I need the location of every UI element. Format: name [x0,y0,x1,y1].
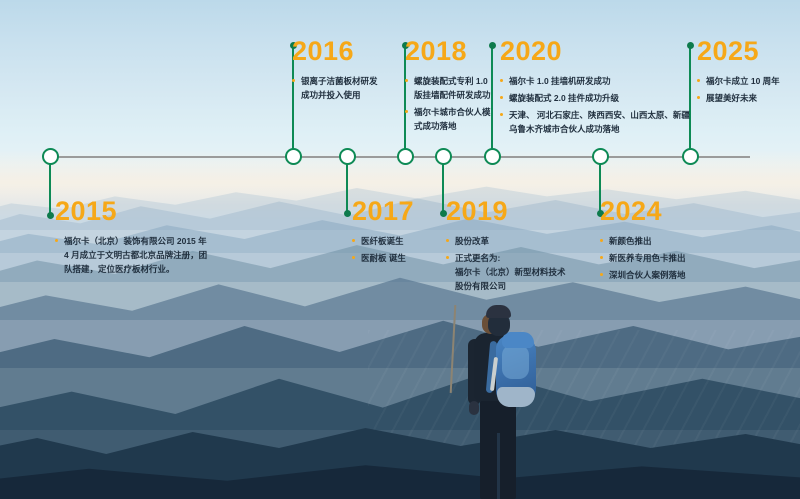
timeline-bullet: 银离子洁菌板材研发 成功并投入使用 [292,74,392,102]
timeline-year-label: 2019 [446,198,566,225]
timeline-bullet-text: 展望美好未来 [706,93,757,103]
timeline-bullet-text: 福尔卡成立 10 周年 [706,76,780,86]
timeline-bullet: 股份改革 [446,234,566,248]
timeline-bullet-list: 螺旋装配式专利 1.0 版挂墙配件研发成功福尔卡城市合伙人模 式成功落地 [405,74,503,133]
timeline-bullet-text: 医耐板 诞生 [361,253,406,263]
hiker-hand [469,401,479,415]
timeline-bullet-list: 股份改革正式更名为: 福尔卡（北京）新型材料技术 股份有限公司 [446,234,566,293]
timeline-node-2016[interactable] [285,148,302,165]
timeline-stem-cap-2017 [344,210,351,217]
bullet-dot-icon [352,256,355,259]
timeline-year-label: 2024 [600,198,730,225]
bullet-dot-icon [697,79,700,82]
timeline-stem-2015 [49,156,51,216]
bullet-dot-icon [600,256,603,259]
timeline-bullet: 医纤板诞生 [352,234,442,248]
timeline-bullet-list: 福尔卡（北京）装饰有限公司 2015 年 4 月成立于文明古都北京品牌注册，团 … [55,234,235,276]
backpack-lid [502,332,534,348]
timeline-stem-cap-2015 [47,212,54,219]
bullet-dot-icon [600,239,603,242]
timeline-bullet-text: 深圳合伙人案例落地 [609,270,686,280]
bullet-dot-icon [405,110,408,113]
timeline-entry-2024[interactable]: 2024新颜色推出新医养专用色卡推出深圳合伙人案例落地 [600,198,730,285]
timeline-infographic: 2015福尔卡（北京）装饰有限公司 2015 年 4 月成立于文明古都北京品牌注… [0,0,800,499]
timeline-bullet: 福尔卡 1.0 挂墙机研发成功 [500,74,700,88]
timeline-bullet-text: 新医养专用色卡推出 [609,253,686,263]
timeline-bullet: 新医养专用色卡推出 [600,251,730,265]
timeline-bullet-list: 福尔卡成立 10 周年展望美好未来 [697,74,800,105]
timeline-bullet-list: 福尔卡 1.0 挂墙机研发成功螺旋装配式 2.0 挂件成功升级天津、 河北石家庄… [500,74,700,136]
timeline-bullet-text: 正式更名为: 福尔卡（北京）新型材料技术 股份有限公司 [455,253,566,291]
timeline-entry-2025[interactable]: 2025福尔卡成立 10 周年展望美好未来 [697,38,800,108]
timeline-bullet-text: 天津、 河北石家庄、陕西西安、山西太原、新疆 乌鲁木齐城市合伙人成功落地 [509,110,690,134]
backpack-base [497,387,535,407]
timeline-bullet-list: 银离子洁菌板材研发 成功并投入使用 [292,74,392,102]
timeline-node-2024[interactable] [592,148,609,165]
timeline-bullet-text: 股份改革 [455,236,489,246]
timeline-bullet: 福尔卡城市合伙人模 式成功落地 [405,105,503,133]
bullet-dot-icon [500,113,503,116]
timeline-year-label: 2025 [697,38,800,65]
timeline-year-label: 2016 [292,38,392,65]
timeline-bullet-list: 新颜色推出新医养专用色卡推出深圳合伙人案例落地 [600,234,730,282]
timeline-bullet-text: 新颜色推出 [609,236,652,246]
bullet-dot-icon [352,239,355,242]
timeline-bullet-text: 螺旋装配式 2.0 挂件成功升级 [509,93,619,103]
timeline-bullet-list: 医纤板诞生医耐板 诞生 [352,234,442,265]
backpack-front-panel [502,345,529,379]
timeline-bullet: 福尔卡成立 10 周年 [697,74,800,88]
timeline-bullet: 医耐板 诞生 [352,251,442,265]
timeline-bullet: 正式更名为: 福尔卡（北京）新型材料技术 股份有限公司 [446,251,566,293]
timeline-bullet-text: 福尔卡 1.0 挂墙机研发成功 [509,76,611,86]
timeline-year-label: 2018 [405,38,503,65]
bullet-dot-icon [500,96,503,99]
timeline-entry-2016[interactable]: 2016银离子洁菌板材研发 成功并投入使用 [292,38,392,105]
timeline-entry-2018[interactable]: 2018螺旋装配式专利 1.0 版挂墙配件研发成功福尔卡城市合伙人模 式成功落地 [405,38,503,136]
bullet-dot-icon [446,239,449,242]
bullet-dot-icon [500,79,503,82]
bullet-dot-icon [697,96,700,99]
timeline-node-2020[interactable] [484,148,501,165]
timeline-entry-2015[interactable]: 2015福尔卡（北京）装饰有限公司 2015 年 4 月成立于文明古都北京品牌注… [55,198,235,279]
timeline-entry-2019[interactable]: 2019股份改革正式更名为: 福尔卡（北京）新型材料技术 股份有限公司 [446,198,566,296]
hiker-figure [452,305,548,499]
timeline-entry-2017[interactable]: 2017医纤板诞生医耐板 诞生 [352,198,442,268]
timeline-node-2017[interactable] [339,148,356,165]
timeline-bullet-text: 福尔卡（北京）装饰有限公司 2015 年 4 月成立于文明古都北京品牌注册，团 … [64,236,207,274]
bullet-dot-icon [446,256,449,259]
timeline-node-2018[interactable] [397,148,414,165]
timeline-year-label: 2020 [500,38,700,65]
timeline-bullet: 展望美好未来 [697,91,800,105]
timeline-bullet: 螺旋装配式 2.0 挂件成功升级 [500,91,700,105]
timeline-bullet-text: 医纤板诞生 [361,236,404,246]
bullet-dot-icon [405,79,408,82]
timeline-year-label: 2017 [352,198,442,225]
timeline-bullet-text: 银离子洁菌板材研发 成功并投入使用 [301,76,378,100]
timeline-bullet-text: 福尔卡城市合伙人模 式成功落地 [414,107,491,131]
timeline-bullet: 深圳合伙人案例落地 [600,268,730,282]
timeline-bullet-text: 螺旋装配式专利 1.0 版挂墙配件研发成功 [414,76,491,100]
timeline-entry-2020[interactable]: 2020福尔卡 1.0 挂墙机研发成功螺旋装配式 2.0 挂件成功升级天津、 河… [500,38,700,139]
timeline-node-2015[interactable] [42,148,59,165]
timeline-year-label: 2015 [55,198,235,225]
timeline-bullet: 螺旋装配式专利 1.0 版挂墙配件研发成功 [405,74,503,102]
timeline-bullet: 福尔卡（北京）装饰有限公司 2015 年 4 月成立于文明古都北京品牌注册，团 … [55,234,235,276]
bullet-dot-icon [55,239,58,242]
timeline-node-2019[interactable] [435,148,452,165]
bullet-dot-icon [292,79,295,82]
hiker-hat [486,305,511,318]
timeline-bullet: 新颜色推出 [600,234,730,248]
bullet-dot-icon [600,273,603,276]
hiker-leg-gap [497,433,500,499]
timeline-bullet: 天津、 河北石家庄、陕西西安、山西太原、新疆 乌鲁木齐城市合伙人成功落地 [500,108,700,136]
timeline-node-2025[interactable] [682,148,699,165]
